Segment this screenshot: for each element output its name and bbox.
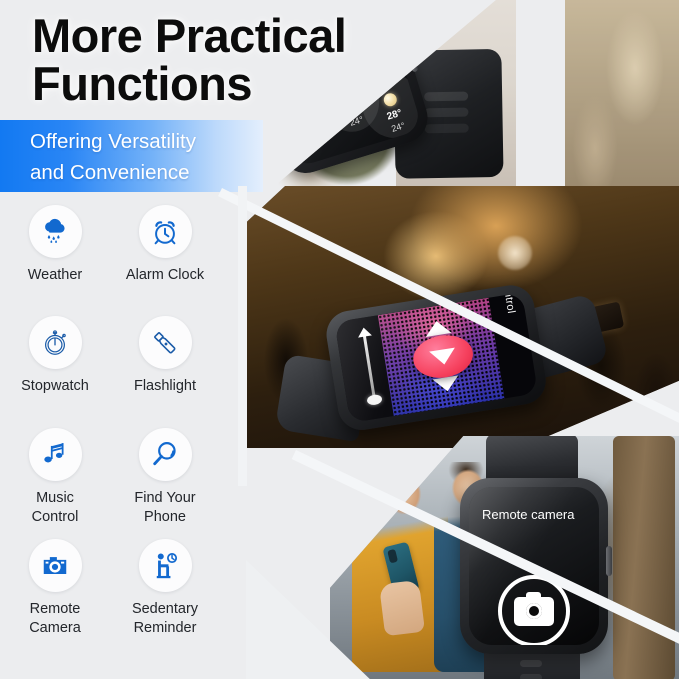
- feature-item-remote-camera[interactable]: Remote Camera: [0, 539, 110, 639]
- feature-row: Music Control Find Your Phone: [0, 428, 240, 528]
- feature-label: Alarm Clock: [126, 266, 204, 285]
- icon-circle: [29, 205, 82, 258]
- panel-left-edge: [238, 186, 247, 486]
- page-subtitle: Offering Versatility and Convenience: [30, 126, 280, 188]
- alarm-clock-icon: [150, 217, 180, 247]
- feature-item-weather[interactable]: Weather: [0, 205, 110, 285]
- icon-circle: [139, 539, 192, 592]
- feature-row: Stopwatch Flashlight: [0, 316, 240, 408]
- headline-line-2: Functions: [32, 60, 392, 108]
- infographic-canvas: Future weather Sun 28° 24° Mon 28° 24°: [0, 0, 679, 679]
- feature-label: Sedentary Reminder: [132, 600, 198, 639]
- screen-glass-reflection: [334, 292, 538, 422]
- icon-circle: [139, 205, 192, 258]
- music-note-icon: [40, 439, 70, 469]
- feature-label: Weather: [28, 266, 83, 285]
- row-gap: [0, 409, 240, 428]
- feature-item-alarm-clock[interactable]: Alarm Clock: [110, 205, 220, 285]
- weather-icon: [40, 217, 70, 247]
- feature-item-sedentary-reminder[interactable]: Sedentary Reminder: [110, 539, 220, 639]
- magnifier-icon: [150, 439, 180, 469]
- camera-icon: [40, 551, 70, 581]
- subtitle-line-2: and Convenience: [30, 157, 280, 188]
- page-title: More Practical Functions: [32, 12, 392, 109]
- stopwatch-icon: [40, 328, 70, 358]
- row-gap: [0, 297, 240, 316]
- feature-label: Stopwatch: [21, 377, 89, 396]
- icon-circle: [29, 316, 82, 369]
- feature-label: Remote Camera: [29, 600, 81, 639]
- feature-label: Music Control: [32, 489, 79, 528]
- feature-row: Weather Alarm Clock: [0, 205, 240, 297]
- feature-label: Flashlight: [134, 377, 196, 396]
- watch-side-button: [606, 546, 612, 576]
- feature-item-music-control[interactable]: Music Control: [0, 428, 110, 528]
- feature-item-find-your-phone[interactable]: Find Your Phone: [110, 428, 220, 528]
- icon-circle: [29, 539, 82, 592]
- feature-item-stopwatch[interactable]: Stopwatch: [0, 316, 110, 396]
- icon-circle: [139, 316, 192, 369]
- photo-dried-grass: [565, 0, 679, 210]
- feature-item-flashlight[interactable]: Flashlight: [110, 316, 220, 396]
- watch-screen-music: Music Control: [334, 292, 538, 422]
- photo-panel-music: Music Control: [246, 186, 679, 448]
- watch-side-button: [405, 46, 418, 73]
- sedentary-reminder-icon: [150, 551, 180, 581]
- feature-icon-grid: Weather Alarm Clock: [0, 205, 240, 639]
- icon-circle: [29, 428, 82, 481]
- flashlight-icon: [150, 328, 180, 358]
- row-gap: [0, 527, 240, 539]
- icon-circle: [139, 428, 192, 481]
- smartwatch-camera: Remote camera: [450, 454, 650, 679]
- feature-row: Remote Camera Sedentary Reminder: [0, 539, 240, 639]
- headline-line-1: More Practical: [32, 9, 346, 62]
- subtitle-line-1: Offering Versatility: [30, 130, 196, 153]
- feature-label: Find Your Phone: [134, 489, 195, 528]
- photo-bokeh-light: [498, 236, 532, 270]
- photo-hand: [379, 580, 425, 636]
